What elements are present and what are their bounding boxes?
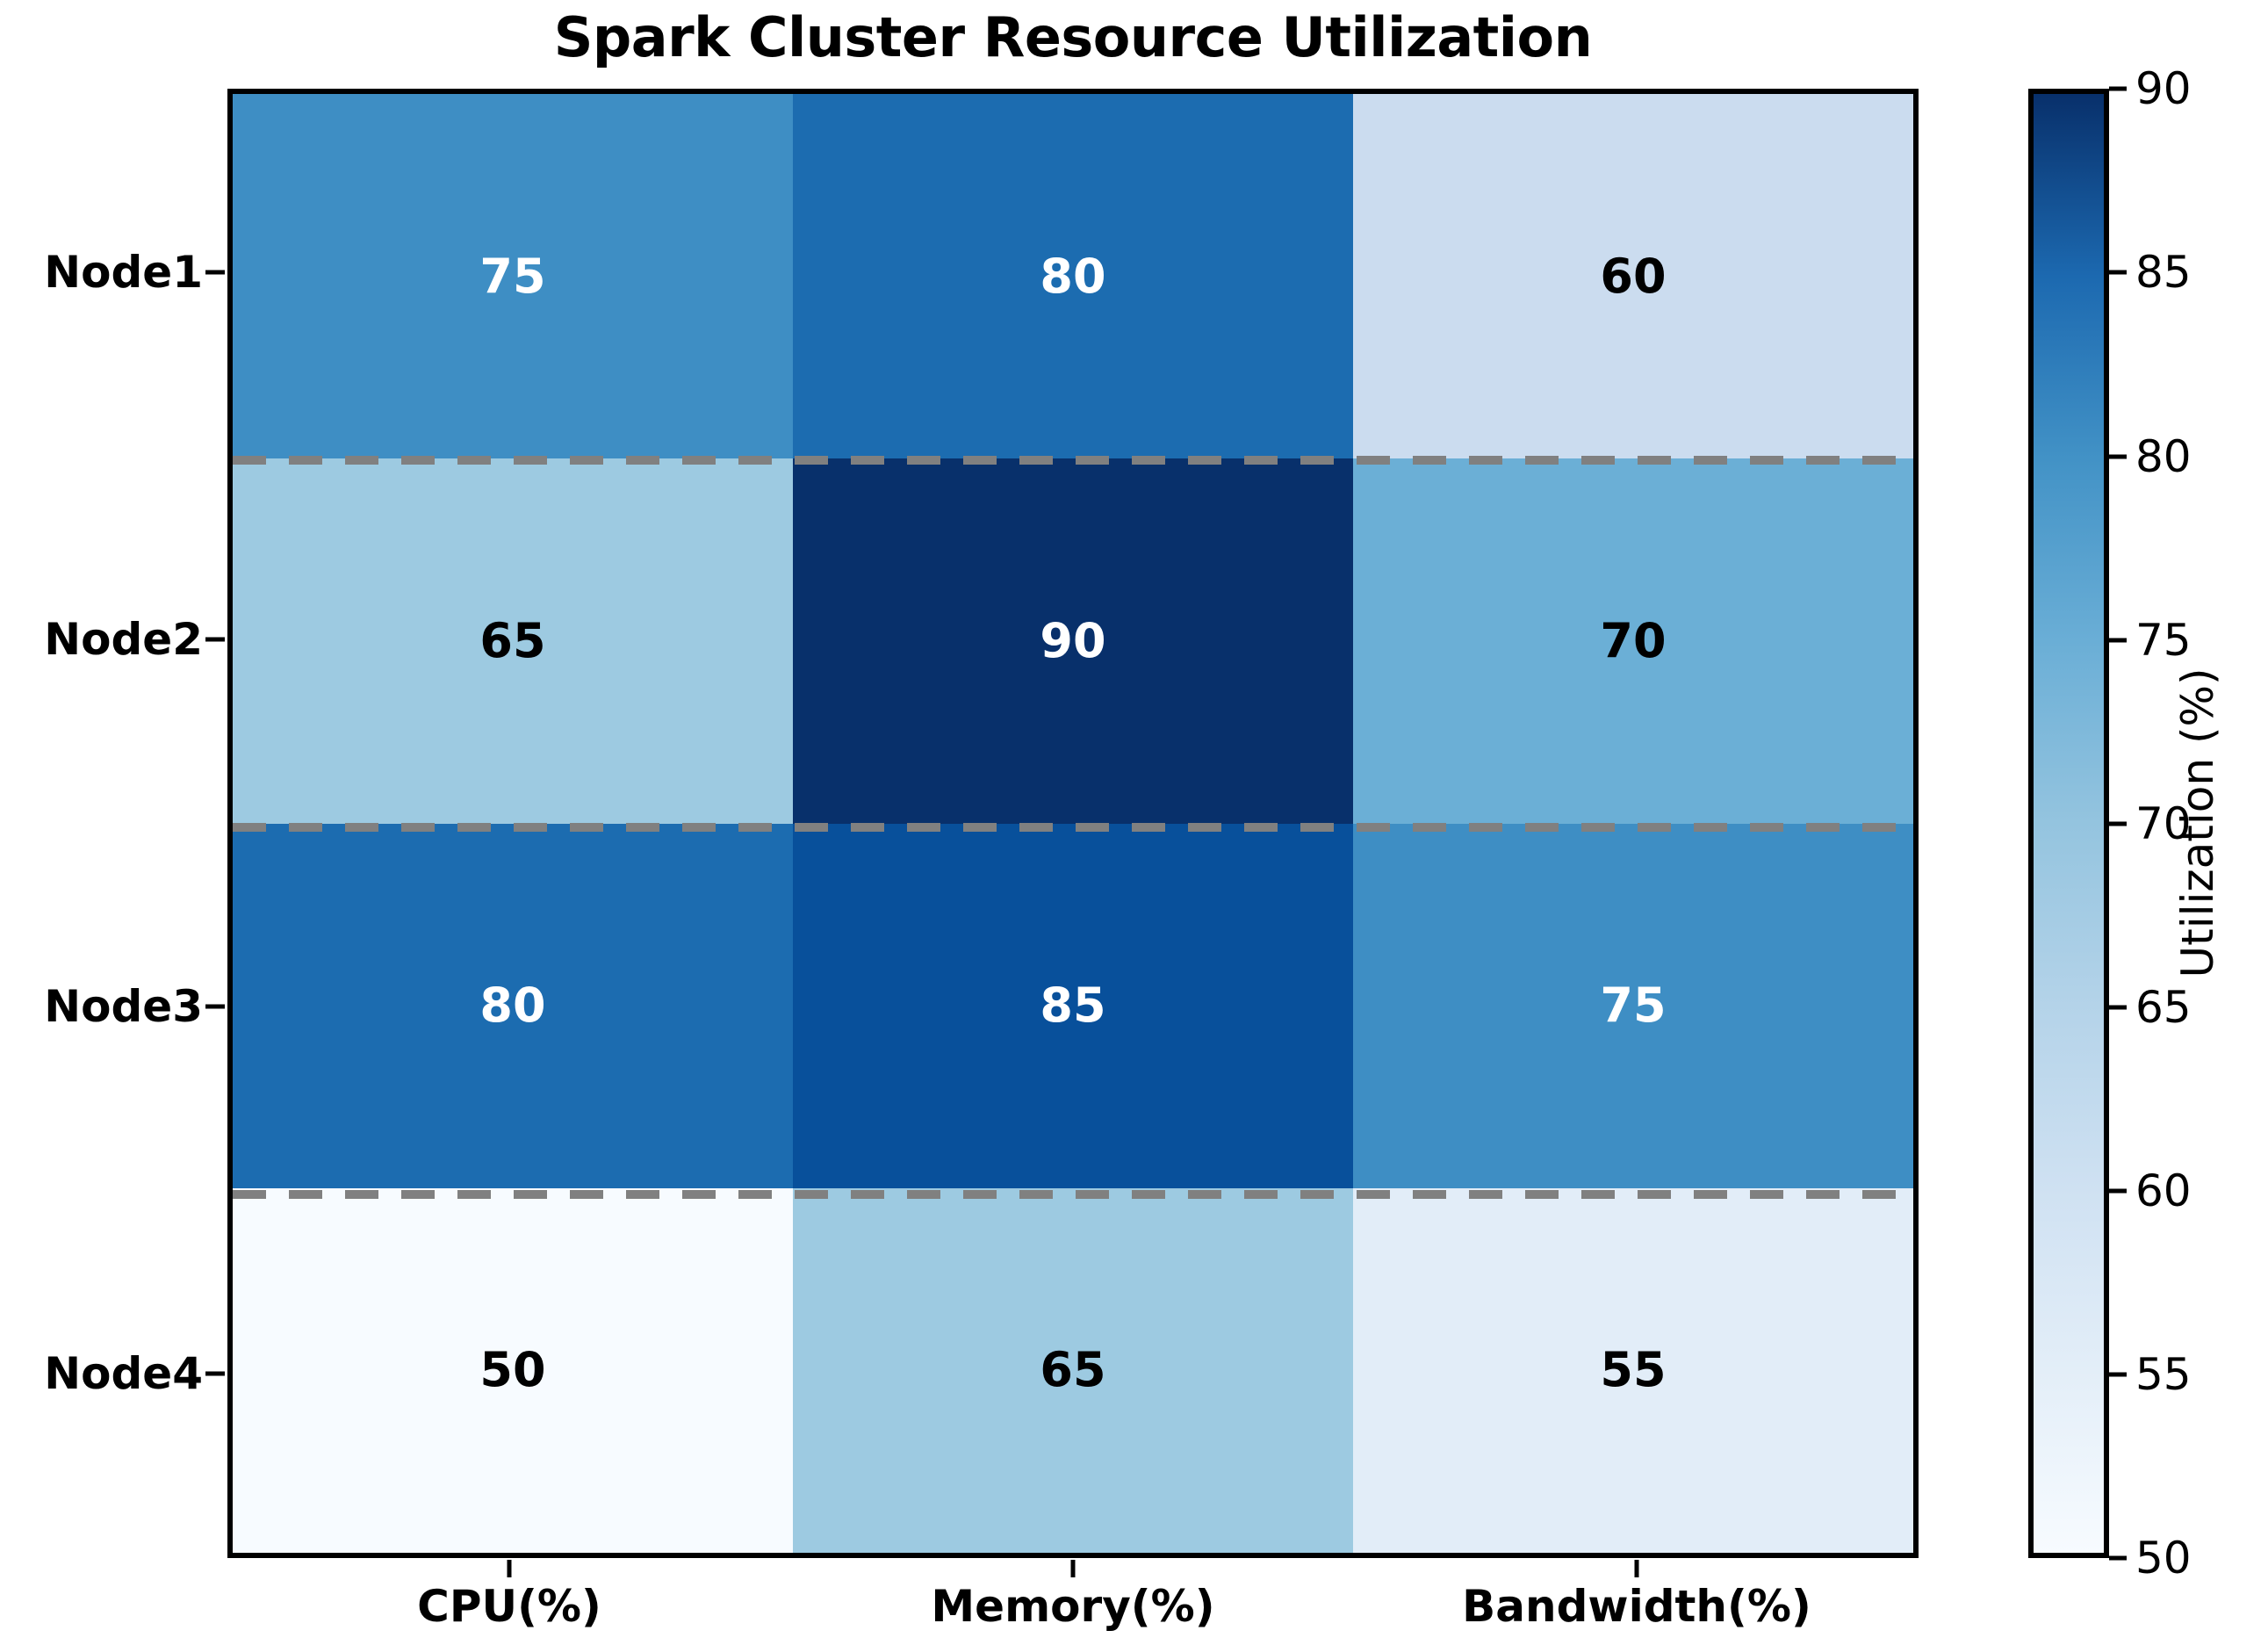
heatmap-cell[interactable]: 65 — [233, 458, 793, 823]
colorbar-tick-label-60: 60 — [2135, 1165, 2192, 1216]
colorbar-tick-label-80: 80 — [2135, 431, 2192, 482]
colorbar-tick-mark-75 — [2109, 639, 2127, 643]
colorbar-tick-label-65: 65 — [2135, 982, 2192, 1033]
colorbar-tick-mark-90 — [2109, 87, 2127, 91]
colorbar-tick-label-85: 85 — [2135, 247, 2192, 298]
heatmap-cell-value: 65 — [479, 617, 545, 665]
colorbar-tick-label-50: 50 — [2135, 1533, 2192, 1584]
heatmap-cell[interactable]: 90 — [793, 458, 1353, 823]
heatmap-cell-value: 70 — [1600, 617, 1666, 665]
heatmap-cell-value: 85 — [1040, 982, 1105, 1029]
heatmap-cell-value: 50 — [479, 1346, 545, 1394]
heatmap-cell-value: 75 — [479, 253, 545, 300]
y-tick-mark-node4 — [205, 1372, 225, 1376]
colorbar-tick-mark-50 — [2109, 1556, 2127, 1561]
heatmap-cell-value: 65 — [1040, 1346, 1105, 1394]
chart-title: Spark Cluster Resource Utilization — [227, 5, 1919, 69]
heatmap-cell-value: 60 — [1600, 253, 1666, 300]
colorbar-tick-label-75: 75 — [2135, 615, 2192, 666]
heatmap-plot-area: 75 80 60 65 90 70 80 85 — [227, 89, 1919, 1558]
colorbar-tick-label-90: 90 — [2135, 63, 2192, 114]
heatmap-cell[interactable]: 55 — [1353, 1188, 1913, 1553]
x-tick-label-memory: Memory(%) — [931, 1581, 1214, 1632]
y-tick-label-node4: Node4 — [44, 1348, 203, 1399]
heatmap-cell[interactable]: 75 — [233, 94, 793, 458]
colorbar-tick-mark-55 — [2109, 1373, 2127, 1377]
heatmap-cell[interactable]: 65 — [793, 1188, 1353, 1553]
heatmap-cell-value: 90 — [1040, 617, 1105, 665]
colorbar-tick-mark-60 — [2109, 1189, 2127, 1194]
y-tick-mark-node1 — [205, 271, 225, 275]
heatmap-cell-value: 75 — [1600, 982, 1666, 1029]
colorbar-axis-label: Utilization (%) — [2172, 668, 2223, 978]
heatmap-cell-value: 55 — [1600, 1346, 1666, 1394]
x-tick-mark-bandwidth — [1635, 1560, 1639, 1577]
heatmap-cell-value: 80 — [1040, 253, 1105, 300]
colorbar-tick-label-55: 55 — [2135, 1349, 2192, 1400]
heatmap-cell[interactable]: 75 — [1353, 824, 1913, 1188]
heatmap-cell[interactable]: 70 — [1353, 458, 1913, 823]
heatmap-cell[interactable]: 80 — [233, 824, 793, 1188]
x-tick-label-bandwidth: Bandwidth(%) — [1462, 1581, 1811, 1632]
colorbar-tick-mark-65 — [2109, 1006, 2127, 1010]
heatmap-cell[interactable]: 85 — [793, 824, 1353, 1188]
colorbar-gradient — [2028, 89, 2109, 1558]
x-tick-mark-memory — [1071, 1560, 1076, 1577]
y-tick-label-node1: Node1 — [44, 247, 203, 298]
y-tick-mark-node2 — [205, 638, 225, 642]
heatmap-cell[interactable]: 60 — [1353, 94, 1913, 458]
y-tick-label-node3: Node3 — [44, 981, 203, 1032]
x-tick-label-cpu: CPU(%) — [417, 1581, 601, 1632]
heatmap-cell[interactable]: 80 — [793, 94, 1353, 458]
heatmap-cell[interactable]: 50 — [233, 1188, 793, 1553]
x-tick-mark-cpu — [508, 1560, 512, 1577]
colorbar-tick-mark-80 — [2109, 455, 2127, 459]
colorbar-tick-mark-85 — [2109, 271, 2127, 275]
heatmap-cell-value: 80 — [479, 982, 545, 1029]
colorbar-tick-mark-70 — [2109, 822, 2127, 826]
y-tick-label-node2: Node2 — [44, 614, 203, 665]
heatmap-figure: Spark Cluster Resource Utilization 75 80… — [0, 0, 2268, 1645]
colorbar[interactable] — [2028, 89, 2109, 1558]
heatmap-cell-grid: 75 80 60 65 90 70 80 85 — [233, 94, 1913, 1553]
y-tick-mark-node3 — [205, 1005, 225, 1009]
